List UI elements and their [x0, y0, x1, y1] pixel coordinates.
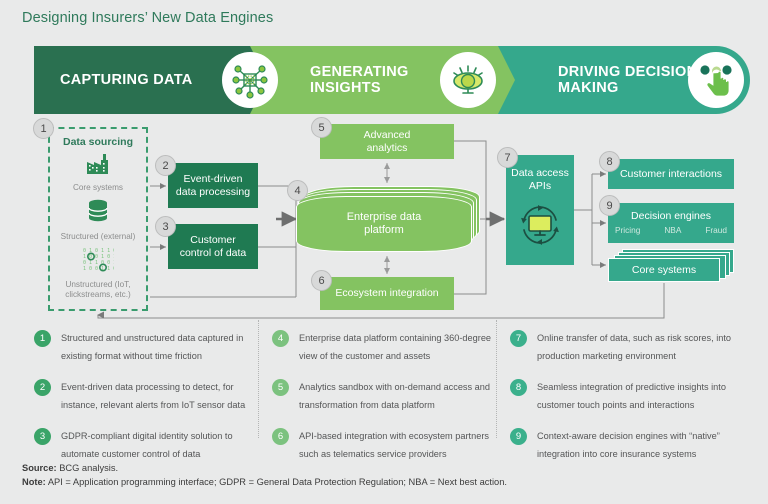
legend-text: Context-aware decision engines with “nat…	[537, 431, 720, 459]
footer-source-label: Source:	[22, 463, 57, 473]
decision-engines-sublabels: Pricing NBA Fraud	[615, 226, 727, 236]
banner-band-label: GENERATING INSIGHTS	[284, 64, 454, 96]
box-event-driven-data-processing[interactable]: Event-driven data processing	[168, 163, 258, 208]
banner-band-label: CAPTURING DATA	[34, 72, 193, 88]
step-badge-8: 8	[599, 151, 620, 172]
step-badge-5: 5	[311, 117, 332, 138]
legend-number: 8	[510, 379, 527, 396]
footer-note-label: Note:	[22, 477, 46, 487]
data-sourcing-title: Data sourcing	[50, 136, 146, 148]
legend-text: Seamless integration of predictive insig…	[537, 382, 726, 410]
box-data-access-apis[interactable]: Data access APIs	[506, 155, 574, 265]
legend-text: Online transfer of data, such as risk sc…	[537, 333, 731, 361]
source-item-unstructured: 0 1 0 1 1 0 1 0 0 1 0 1 0 1 1 0 0 1 1 0 …	[50, 247, 146, 301]
legend-item: 8 Seamless integration of predictive ins…	[510, 377, 742, 413]
binary-data-icon: 0 1 0 1 1 0 1 0 0 1 0 1 0 1 1 0 0 1 1 0 …	[82, 247, 114, 273]
footer: Source: BCG analysis. Note: API = Applic…	[22, 462, 507, 490]
legend-column-2: 4 Enterprise data platform containing 36…	[272, 328, 504, 475]
legend-column-1: 1 Structured and unstructured data captu…	[34, 328, 266, 475]
box-advanced-analytics[interactable]: Advanced analytics	[320, 124, 454, 159]
legend-item: 5 Analytics sandbox with on-demand acces…	[272, 377, 504, 413]
step-badge-3: 3	[155, 216, 176, 237]
process-banner: CAPTURING DATA GENERATING INSIGHTS DRIVI…	[34, 46, 750, 114]
factory-icon	[84, 152, 112, 176]
monitor-refresh-icon	[516, 202, 564, 252]
step-badge-6: 6	[311, 270, 332, 291]
legend-text: Enterprise data platform containing 360-…	[299, 333, 491, 361]
step-badge-1: 1	[33, 118, 54, 139]
footer-source-line: Source: BCG analysis.	[22, 462, 507, 476]
box-customer-interactions[interactable]: Customer interactions	[608, 159, 734, 189]
step-badge-7: 7	[497, 147, 518, 168]
step-badge-4: 4	[287, 180, 308, 201]
legend-number: 7	[510, 330, 527, 347]
data-sourcing-panel: Data sourcing Core systems	[48, 127, 148, 311]
legend-column-3: 7 Online transfer of data, such as risk …	[510, 328, 742, 475]
legend-text: Structured and unstructured data capture…	[61, 333, 243, 361]
legend-number: 6	[272, 428, 289, 445]
decision-sublabel-nba: NBA	[664, 226, 681, 236]
footer-note-text: API = Application programming interface;…	[46, 477, 507, 487]
source-item-label: Core systems	[50, 183, 146, 193]
svg-text:1 0 0 1 1 0: 1 0 0 1 1 0	[83, 266, 114, 272]
legend-item: 4 Enterprise data platform containing 36…	[272, 328, 504, 364]
legend-number: 9	[510, 428, 527, 445]
legend-number: 5	[272, 379, 289, 396]
box-decision-engines-label: Decision engines	[631, 210, 711, 223]
legend-item: 3 GDPR-compliant digital identity soluti…	[34, 426, 266, 462]
source-item-structured: Structured (external)	[50, 197, 146, 242]
legend: 1 Structured and unstructured data captu…	[34, 328, 750, 440]
legend-text: API-based integration with ecosystem par…	[299, 431, 489, 459]
database-cylinder-icon	[84, 197, 112, 225]
page-title: Designing Insurers’ New Data Engines	[22, 10, 273, 26]
footer-note-line: Note: API = Application programming inte…	[22, 476, 507, 490]
legend-item: 1 Structured and unstructured data captu…	[34, 328, 266, 364]
legend-item: 9 Context-aware decision engines with “n…	[510, 426, 742, 462]
legend-text: Event-driven data processing to detect, …	[61, 382, 245, 410]
legend-number: 2	[34, 379, 51, 396]
core-systems-label: Core systems	[608, 258, 720, 282]
banner-band-capturing-data: CAPTURING DATA	[34, 46, 250, 114]
decision-sublabel-fraud: Fraud	[705, 226, 727, 236]
legend-item: 2 Event-driven data processing to detect…	[34, 377, 266, 413]
step-badge-9: 9	[599, 195, 620, 216]
eye-icon	[440, 52, 496, 108]
enterprise-data-platform[interactable]: Enterprise data platform	[296, 186, 480, 252]
footer-source-text: BCG analysis.	[57, 463, 118, 473]
source-item-label: Unstructured (IoT, clickstreams, etc.)	[50, 280, 146, 301]
enterprise-data-platform-label: Enterprise data platform	[296, 196, 472, 252]
source-item-core-systems: Core systems	[50, 152, 146, 193]
decision-sublabel-pricing: Pricing	[615, 226, 640, 236]
chip-network-icon	[222, 52, 278, 108]
box-data-access-apis-label: Data access APIs	[511, 167, 569, 192]
step-badge-2: 2	[155, 155, 176, 176]
banner-band-label: DRIVING DECISION MAKING	[532, 64, 702, 96]
box-decision-engines[interactable]: Decision engines Pricing NBA Fraud	[608, 203, 734, 243]
hand-touch-icon	[688, 52, 744, 108]
legend-number: 3	[34, 428, 51, 445]
legend-text: Analytics sandbox with on-demand access …	[299, 382, 490, 410]
box-ecosystem-integration[interactable]: Ecosystem integration	[320, 277, 454, 310]
legend-item: 7 Online transfer of data, such as risk …	[510, 328, 742, 364]
source-item-label: Structured (external)	[50, 232, 146, 242]
legend-item: 6 API-based integration with ecosystem p…	[272, 426, 504, 462]
legend-number: 1	[34, 330, 51, 347]
legend-text: GDPR-compliant digital identity solution…	[61, 431, 233, 459]
box-customer-control-of-data[interactable]: Customer control of data	[168, 224, 258, 269]
box-core-systems-output[interactable]: Core systems	[608, 249, 734, 283]
legend-number: 4	[272, 330, 289, 347]
